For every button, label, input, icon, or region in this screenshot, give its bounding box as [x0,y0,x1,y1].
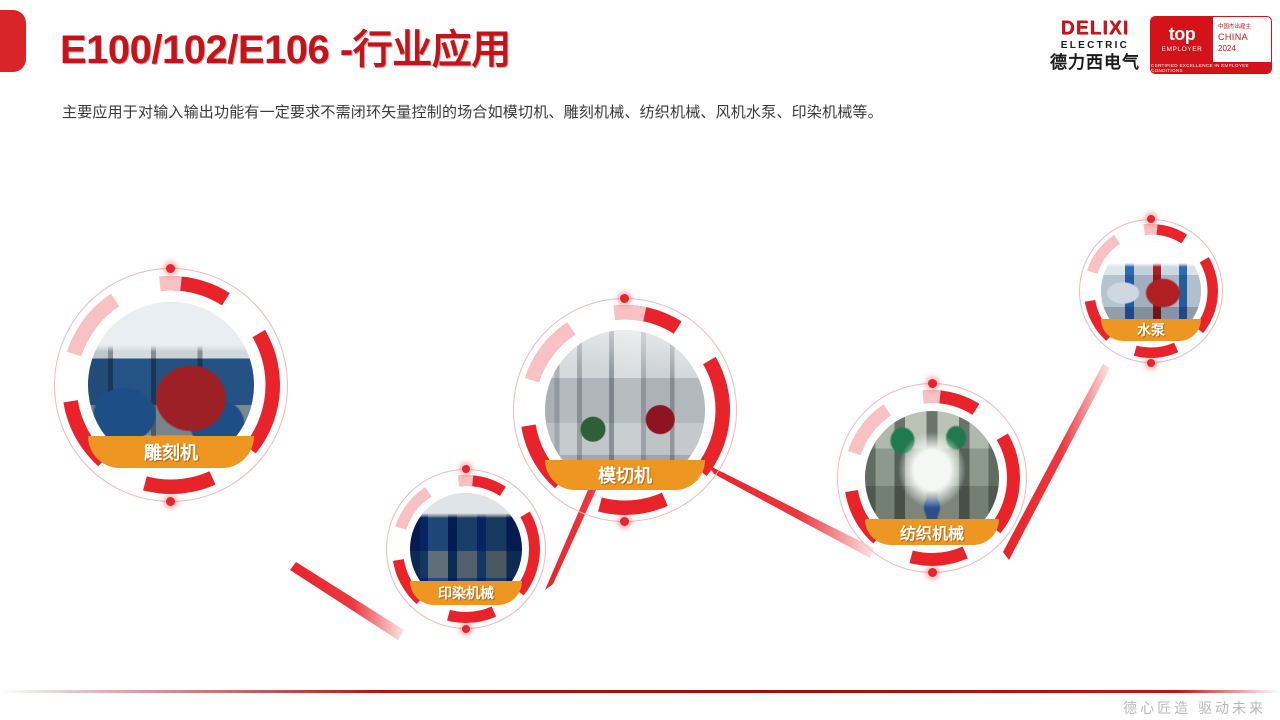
top-employer-country: CHINA [1218,32,1271,44]
delixi-chinese-name: 德力西电气 [1050,54,1140,71]
node-water-pump[interactable]: 水泵 [1079,219,1223,363]
node-printing-dyeing[interactable]: 印染机械 [386,469,546,629]
connector-engraving-to-printing [290,562,404,640]
footer-tagline: 德心匠造 驱动未来 [1123,698,1266,718]
top-employer-word: top [1169,25,1195,43]
ring-dot-top [620,294,629,303]
delixi-wordmark: DELIXI [1061,19,1129,38]
node-label-text: 印染机械 [438,583,494,603]
top-employer-employer-word: EMPLOYER [1162,46,1203,53]
ring-dot-bottom [462,625,470,633]
ring-dot-top [928,379,937,388]
ring-dot-top [462,465,470,473]
page-subtitle: 主要应用于对输入输出功能有一定要求不需闭环矢量控制的场合如模切机、雕刻机械、纺织… [62,101,883,122]
ring-dot-bottom [620,517,629,526]
node-label-text: 水泵 [1137,320,1165,340]
ring-dot-bottom [928,568,937,577]
delixi-electric-label: ELECTRIC [1061,41,1129,51]
node-label-textile: 纺织机械 [865,519,999,545]
node-label-text: 雕刻机 [144,439,198,465]
top-employer-badge: top EMPLOYER 中国杰出雇主 CHINA 2024 CERTIFIED… [1150,16,1272,74]
top-employer-year: 2024 [1218,43,1271,54]
top-employer-upper: top EMPLOYER 中国杰出雇主 CHINA 2024 [1151,17,1271,62]
node-label-engraving: 雕刻机 [88,436,254,468]
ring-dot-top [1147,215,1155,223]
delixi-logo: DELIXI ELECTRIC 德力西电气 [1050,19,1140,71]
ring-dot-top [166,264,175,273]
top-employer-details: 中国杰出雇主 CHINA 2024 [1213,17,1271,62]
node-label-die-cutting: 模切机 [545,460,705,490]
node-label-text: 模切机 [598,462,652,488]
node-label-water-pump: 水泵 [1101,319,1201,341]
slide-canvas: E100/102/E106 -行业应用 主要应用于对输入输出功能有一定要求不需闭… [0,0,1280,720]
node-label-printing-dyeing: 印染机械 [410,581,522,605]
node-die-cutting[interactable]: 模切机 [513,298,737,522]
title-accent-bar [0,10,26,72]
top-employer-cn-line: 中国杰出雇主 [1218,24,1271,31]
node-textile[interactable]: 纺织机械 [837,383,1027,573]
top-employer-mark: top EMPLOYER [1151,17,1213,62]
ring-dot-bottom [1147,359,1155,367]
node-label-text: 纺织机械 [900,520,964,544]
footer-divider [0,690,1280,693]
node-engraving[interactable]: 雕刻机 [54,268,288,502]
ring-dot-bottom [166,497,175,506]
top-employer-certification-strip: CERTIFIED EXCELLENCE IN EMPLOYEE CONDITI… [1151,62,1271,73]
brand-logos: DELIXI ELECTRIC 德力西电气 top EMPLOYER 中国杰出雇… [1050,16,1272,74]
page-title: E100/102/E106 -行业应用 [60,17,511,75]
application-diagram: 模切机 雕刻机 [0,130,1280,670]
